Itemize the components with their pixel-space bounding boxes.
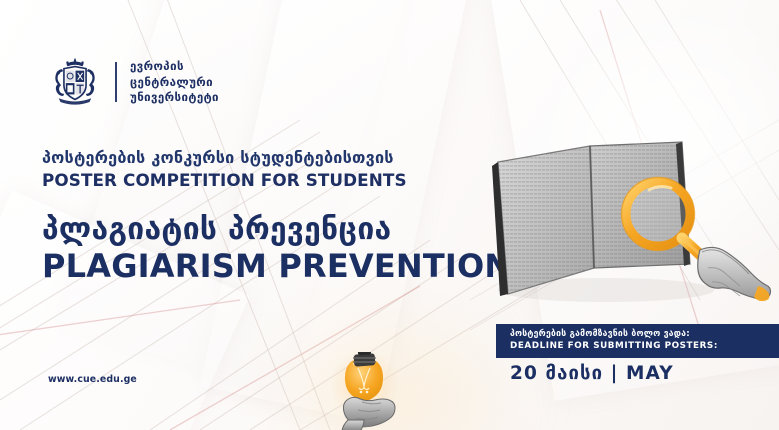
university-crest-icon — [48, 55, 102, 109]
deadline-date: 20 მაისი | MAY — [510, 363, 674, 384]
deadline-label-georgian: პოსტერების გამომზავნის ბოლო ვადა: — [510, 329, 779, 341]
open-book-illustration — [486, 128, 778, 318]
logo-divider — [115, 62, 117, 102]
website-url[interactable]: www.cue.edu.ge — [48, 374, 137, 385]
university-logo[interactable]: ევროპის ცენტრალური უნივერსიტეტი — [48, 55, 219, 109]
deadline-banner: პოსტერების გამომზავნის ბოლო ვადა: DEADLI… — [496, 324, 779, 358]
logo-line-1: ევროპის — [130, 59, 219, 74]
book-left-page — [492, 146, 594, 296]
hand-holding-bulb-icon — [342, 397, 395, 430]
page-title-georgian: პლაგიატის პრევენცია — [42, 213, 511, 247]
headline-block: პოსტერების კონკურსი სტუდენტებისთვის POST… — [42, 148, 511, 285]
light-bulb-illustration — [318, 352, 442, 430]
kicker-english: POSTER COMPETITION FOR STUDENTS — [42, 170, 511, 190]
poster-canvas: ევროპის ცენტრალური უნივერსიტეტი პოსტერებ… — [0, 0, 779, 430]
deadline-label-english: DEADLINE FOR SUBMITTING POSTERS: — [510, 341, 779, 353]
logo-wordmark: ევროპის ცენტრალური უნივერსიტეტი — [130, 59, 219, 105]
page-title-english: PLAGIARISM PREVENTION — [42, 249, 511, 285]
logo-line-3: უნივერსიტეტი — [130, 90, 219, 105]
logo-line-2: ცენტრალური — [130, 75, 219, 90]
kicker-georgian: პოსტერების კონკურსი სტუდენტებისთვის — [42, 148, 511, 168]
